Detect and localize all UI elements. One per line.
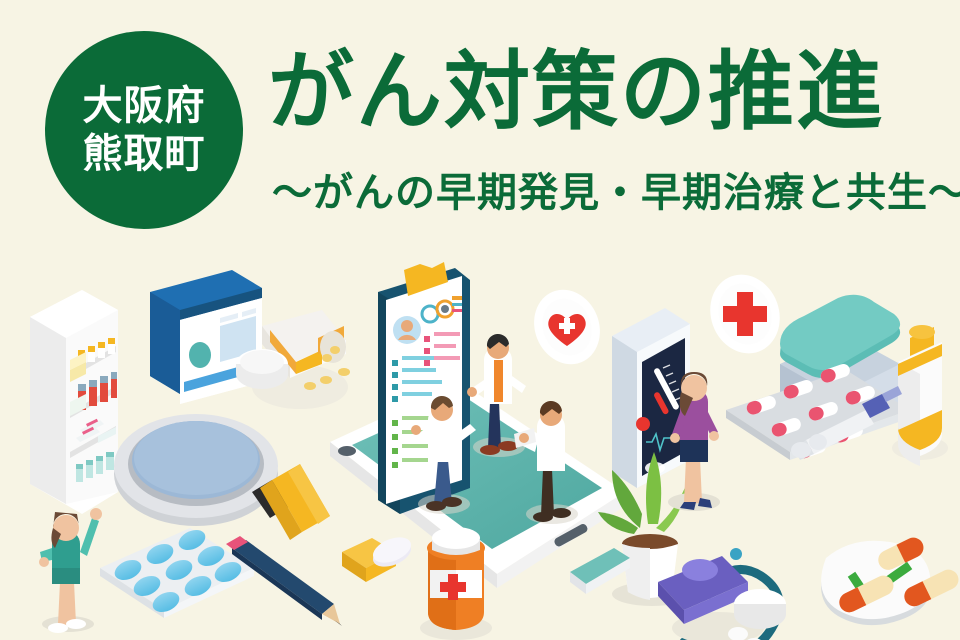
pharmacist-woman xyxy=(39,508,102,633)
red-cross-badge xyxy=(699,265,790,363)
yellow-medicine-bottle xyxy=(892,325,948,466)
orange-pill-bottle xyxy=(420,527,492,640)
smartphone-thermometer xyxy=(612,308,690,488)
municipality-badge: 大阪府 熊取町 xyxy=(45,31,243,229)
blue-blister-pack xyxy=(100,526,254,618)
purple-inhaler xyxy=(658,556,786,640)
poster-canvas: 大阪府 熊取町 がん対策の推進 〜がんの早期発見・早期治療と共生〜 xyxy=(0,0,960,640)
pencil xyxy=(226,536,342,626)
illustration-canvas xyxy=(0,252,960,640)
clipboard-chart xyxy=(378,262,470,514)
page-title: がん対策の推進 xyxy=(268,47,884,137)
pharmacy-shelf xyxy=(30,290,118,514)
heart-badge xyxy=(523,280,611,374)
medical-illustration xyxy=(0,252,960,640)
page-subtitle: 〜がんの早期発見・早期治療と共生〜 xyxy=(272,160,960,218)
magnifying-glass xyxy=(114,414,330,540)
badge-town: 熊取町 xyxy=(83,134,206,174)
badge-prefecture: 大阪府 xyxy=(83,86,206,126)
